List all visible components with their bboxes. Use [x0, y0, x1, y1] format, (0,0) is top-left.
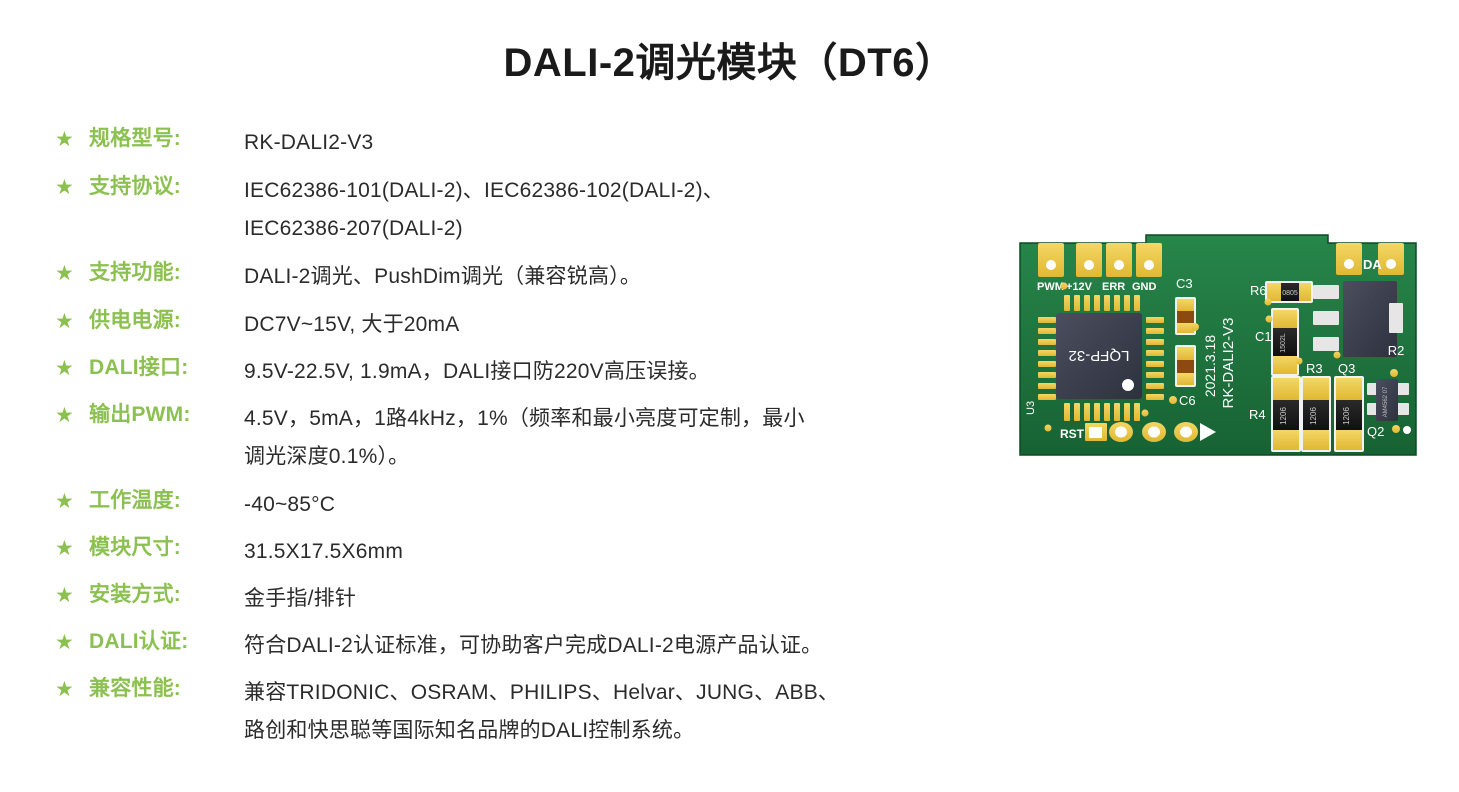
- star-icon: ★: [55, 580, 89, 611]
- spec-value-dimensions: 31.5X17.5X6mm: [244, 533, 975, 571]
- pcb-label-r6: R6: [1250, 283, 1267, 298]
- star-icon: ★: [55, 533, 89, 564]
- pcb-board-date: 2021.3.18: [1202, 335, 1218, 397]
- pcb-edge-connector-pads: [1038, 243, 1162, 277]
- spec-label-temperature: 工作温度:: [89, 486, 244, 516]
- star-icon: ★: [55, 400, 89, 431]
- star-icon: ★: [55, 674, 89, 705]
- pcb-label-q3: R2: [1388, 343, 1405, 358]
- spec-value-pwm-output: 4.5V，5mA，1路4kHz，1%（频率和最小亮度可定制，最小 调光深度0.1…: [244, 400, 975, 476]
- star-icon: ★: [55, 306, 89, 337]
- pcb-ic-label: LQFP-32: [1069, 347, 1130, 364]
- spec-row-pwm-output: ★ 输出PWM: 4.5V，5mA，1路4kHz，1%（频率和最小亮度可定制，最…: [55, 400, 975, 476]
- spec-label-dali-interface: DALI接口:: [89, 353, 244, 383]
- pcb-pad-label-err: ERR: [1102, 281, 1125, 293]
- spec-line: 金手指/排针: [244, 580, 975, 618]
- pcb-part-code-0805: 0805: [1282, 290, 1298, 297]
- pcb-pad-label-12v: +12V: [1066, 281, 1093, 293]
- spec-row-function: ★ 支持功能: DALI-2调光、PushDim调光（兼容锐高）。: [55, 258, 975, 296]
- spec-line: RK-DALI2-V3: [244, 124, 975, 162]
- spec-value-power: DC7V~15V, 大于20mA: [244, 306, 975, 344]
- spec-value-protocol: IEC62386-101(DALI-2)、IEC62386-102(DALI-2…: [244, 172, 975, 248]
- pcb-part-code-am4562: AM4562 07: [1383, 386, 1389, 417]
- spec-row-protocol: ★ 支持协议: IEC62386-101(DALI-2)、IEC62386-10…: [55, 172, 975, 248]
- pcb-part-code-1206: 1206: [1279, 407, 1288, 425]
- pcb-pad-label-da: DA: [1363, 257, 1382, 272]
- spec-line: 兼容TRIDONIC、OSRAM、PHILIPS、Helvar、JUNG、ABB…: [244, 674, 975, 712]
- spec-row-dali-interface: ★ DALI接口: 9.5V-22.5V, 1.9mA，DALI接口防220V高…: [55, 353, 975, 391]
- pcb-module-image: PWM +12V ERR GND DA: [1018, 233, 1418, 461]
- pcb-part-code-1206: 1206: [1309, 407, 1318, 425]
- spec-line: 符合DALI-2认证标准，可协助客户完成DALI-2电源产品认证。: [244, 627, 975, 665]
- spec-line: IEC62386-101(DALI-2)、IEC62386-102(DALI-2…: [244, 172, 975, 210]
- spec-label-model: 规格型号:: [89, 124, 244, 154]
- spec-label-certification: DALI认证:: [89, 627, 244, 657]
- page-title: DALI-2调光模块（DT6）: [0, 30, 1459, 88]
- pcb-label-q2: Q2: [1367, 424, 1384, 439]
- spec-label-pwm-output: 输出PWM:: [89, 400, 244, 430]
- spec-line: 31.5X17.5X6mm: [244, 533, 975, 571]
- pcb-part-code-1206: 1206: [1342, 407, 1351, 425]
- spec-value-function: DALI-2调光、PushDim调光（兼容锐高）。: [244, 258, 975, 296]
- spec-line: -40~85°C: [244, 486, 975, 524]
- pcb-illustration: PWM +12V ERR GND DA: [1018, 233, 1418, 461]
- pcb-pad-label-gnd: GND: [1132, 281, 1157, 293]
- spec-row-model: ★ 规格型号: RK-DALI2-V3: [55, 124, 975, 162]
- spec-value-model: RK-DALI2-V3: [244, 124, 975, 162]
- spec-line: 调光深度0.1%）。: [244, 438, 975, 476]
- spec-row-compatibility: ★ 兼容性能: 兼容TRIDONIC、OSRAM、PHILIPS、Helvar、…: [55, 674, 975, 750]
- star-icon: ★: [55, 627, 89, 658]
- spec-line: IEC62386-207(DALI-2): [244, 210, 975, 248]
- spec-label-protocol: 支持协议:: [89, 172, 244, 202]
- star-icon: ★: [55, 124, 89, 155]
- star-icon: ★: [55, 486, 89, 517]
- spec-line: 4.5V，5mA，1路4kHz，1%（频率和最小亮度可定制，最小: [244, 400, 975, 438]
- pcb-part-code-1502l: 1502L: [1280, 333, 1287, 353]
- spec-line: DC7V~15V, 大于20mA: [244, 306, 975, 344]
- spec-row-certification: ★ DALI认证: 符合DALI-2认证标准，可协助客户完成DALI-2电源产品…: [55, 627, 975, 665]
- spec-value-mounting: 金手指/排针: [244, 580, 975, 618]
- spec-label-dimensions: 模块尺寸:: [89, 533, 244, 563]
- pcb-label-r3: R3: [1306, 361, 1323, 376]
- pcb-label-r4: R4: [1249, 407, 1266, 422]
- spec-row-temperature: ★ 工作温度: -40~85°C: [55, 486, 975, 524]
- spec-line: 9.5V-22.5V, 1.9mA，DALI接口防220V高压误接。: [244, 353, 975, 391]
- spec-row-mounting: ★ 安装方式: 金手指/排针: [55, 580, 975, 618]
- spec-value-dali-interface: 9.5V-22.5V, 1.9mA，DALI接口防220V高压误接。: [244, 353, 975, 391]
- spec-label-function: 支持功能:: [89, 258, 244, 288]
- spec-row-dimensions: ★ 模块尺寸: 31.5X17.5X6mm: [55, 533, 975, 571]
- pcb-label-c6: C6: [1179, 393, 1196, 408]
- pcb-board-name: RK-DALI2-V3: [1220, 318, 1237, 409]
- star-icon: ★: [55, 258, 89, 289]
- spec-label-compatibility: 兼容性能:: [89, 674, 244, 704]
- spec-line: 路创和快思聪等国际知名品牌的DALI控制系统。: [244, 712, 975, 750]
- pcb-label-c3: C3: [1176, 276, 1193, 291]
- spec-value-certification: 符合DALI-2认证标准，可协助客户完成DALI-2电源产品认证。: [244, 627, 975, 665]
- star-icon: ★: [55, 172, 89, 203]
- specification-list: ★ 规格型号: RK-DALI2-V3 ★ 支持协议: IEC62386-101…: [55, 124, 975, 760]
- pcb-ic-designator: U3: [1025, 401, 1037, 415]
- pcb-component-q3: R2: [1313, 281, 1404, 359]
- pcb-label-r2: Q3: [1338, 361, 1355, 376]
- spec-line: DALI-2调光、PushDim调光（兼容锐高）。: [244, 258, 975, 296]
- spec-label-power: 供电电源:: [89, 306, 244, 336]
- star-icon: ★: [55, 353, 89, 384]
- spec-value-temperature: -40~85°C: [244, 486, 975, 524]
- spec-row-power: ★ 供电电源: DC7V~15V, 大于20mA: [55, 306, 975, 344]
- pcb-reset-label: RST: [1060, 427, 1085, 441]
- pcb-pad-label-pwm: PWM: [1037, 281, 1064, 293]
- pcb-label-c1: C1: [1255, 329, 1272, 344]
- spec-label-mounting: 安装方式:: [89, 580, 244, 610]
- spec-value-compatibility: 兼容TRIDONIC、OSRAM、PHILIPS、Helvar、JUNG、ABB…: [244, 674, 975, 750]
